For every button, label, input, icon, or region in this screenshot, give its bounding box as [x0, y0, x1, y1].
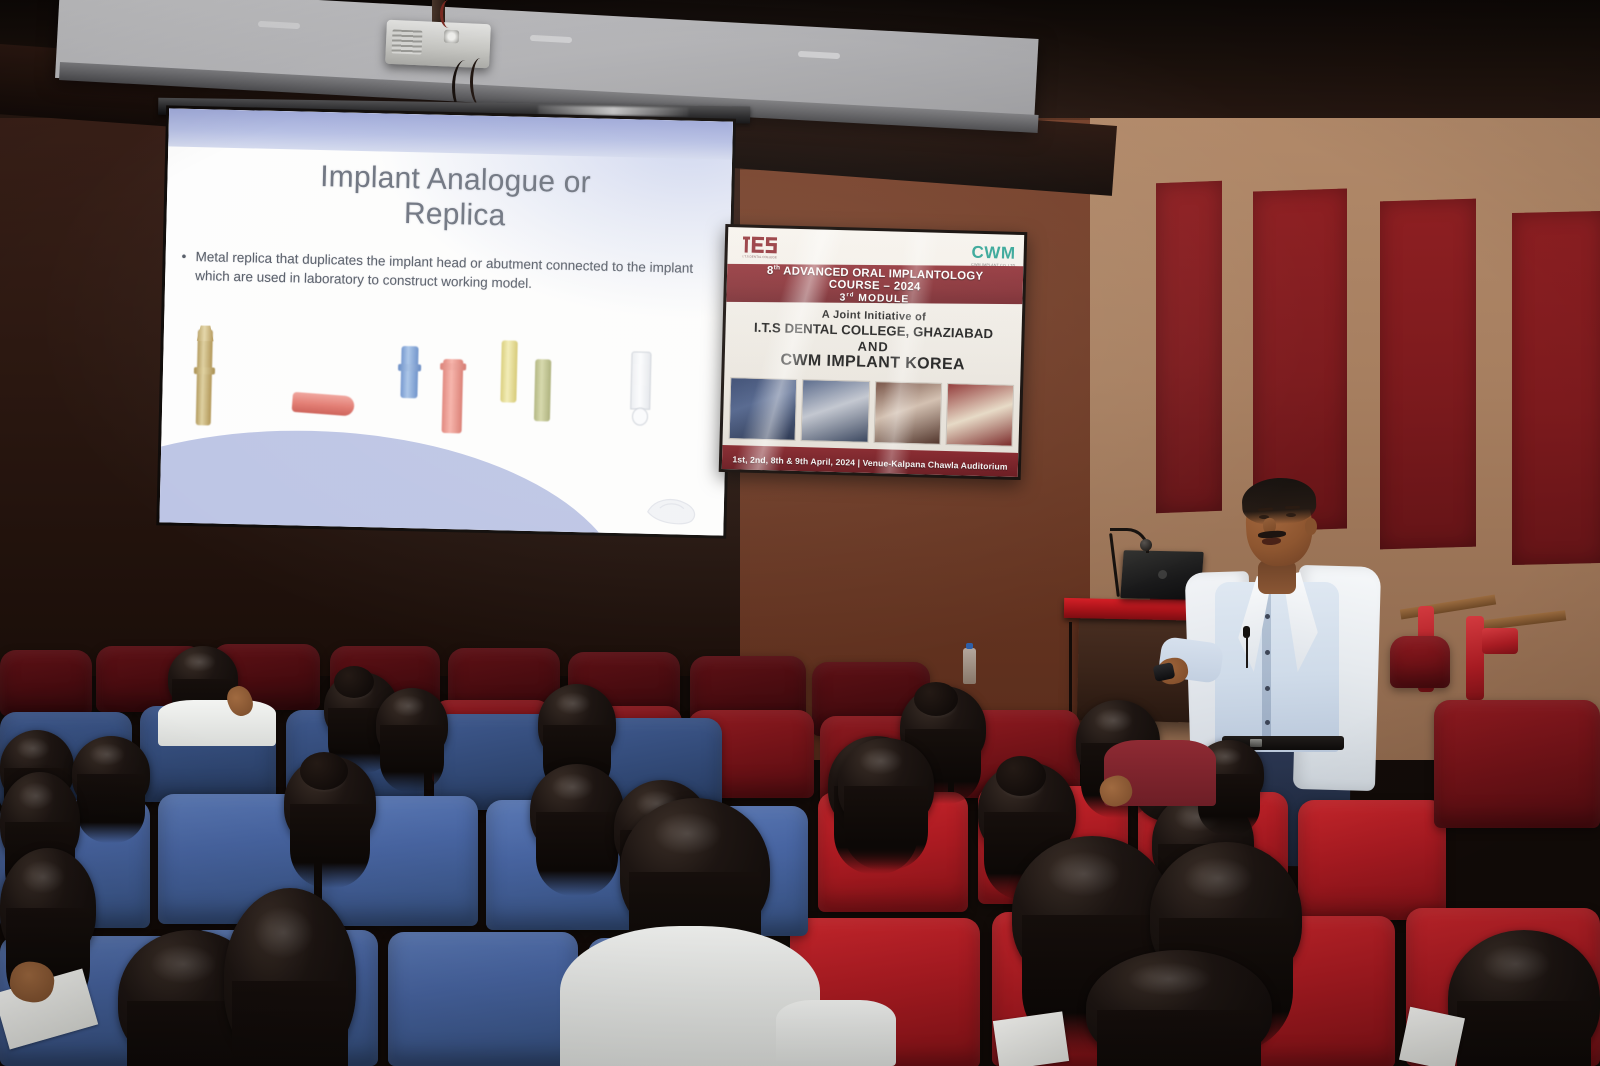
speaker-eye-right	[1286, 513, 1296, 517]
seat-far-right-1[interactable]	[1434, 700, 1600, 828]
speaker-shirt-button-1	[1265, 614, 1270, 619]
auditorium-photo: Implant Analogue or Replica • Metal repl…	[0, 0, 1600, 1066]
slide-corner-logo-icon	[639, 478, 702, 527]
audience-bun-m1	[300, 752, 348, 790]
projector-cable-3	[440, 0, 457, 28]
audience-head-m2	[530, 764, 624, 856]
banner-module-label: MODULE	[858, 293, 909, 305]
seat-right-4[interactable]	[1298, 800, 1446, 920]
analogue-blue	[400, 346, 418, 398]
projector-lens	[444, 30, 460, 44]
laptop-badge-icon	[1158, 570, 1168, 579]
speaker-shirt	[1215, 582, 1339, 752]
speaker-ear	[1305, 518, 1317, 535]
banner-photo-4: Implant Placement By Participants	[945, 383, 1014, 447]
audience-bun-m5	[996, 756, 1046, 796]
projector-cable-2	[470, 58, 491, 106]
analogue-outline-driver	[630, 351, 651, 409]
banner-surface: I.T.S DENTAL COLLEGE CWM CWM IMPLANT CO.…	[722, 227, 1024, 477]
banner-photo-strip: International Faculty Hands-on Activitie…	[729, 377, 1015, 447]
audience-shoulders-r1	[776, 1000, 896, 1066]
audience-head-f6	[1086, 950, 1272, 1066]
banner-photo-1: International Faculty	[729, 377, 798, 441]
banner-photo-3: Live Surgical Demo	[873, 381, 942, 445]
audience-bun-b2	[334, 666, 374, 698]
acoustic-panel-4	[1512, 211, 1600, 565]
seat-left-front-3[interactable]	[388, 932, 578, 1066]
audience-head-r1	[838, 738, 934, 830]
cwm-logo: CWM CWM IMPLANT CO.,LTD	[971, 243, 1016, 268]
audience-head-b4	[538, 684, 616, 762]
folded-seat-2[interactable]	[1466, 616, 1484, 700]
banner-edition-sup: th	[774, 264, 781, 271]
banner-photo-caption-4: Implant Placement By Participants	[948, 383, 1013, 385]
audience-head-f3	[620, 798, 770, 940]
audience-shoulders-b1	[158, 700, 276, 746]
its-logo-subtext: I.T.S DENTAL COLLEGE	[742, 254, 776, 259]
audience-head-b3	[376, 688, 448, 760]
presentation-slide: Implant Analogue or Replica • Metal repl…	[159, 108, 733, 535]
analogue-salmon-collar	[440, 363, 466, 371]
analogue-gold-head	[197, 325, 214, 341]
speaker-shirt-button-2	[1265, 650, 1270, 655]
analogue-blue-collar	[398, 364, 421, 372]
bullet-marker-icon: •	[181, 247, 186, 266]
acoustic-panel-3	[1380, 199, 1476, 550]
speaker-shirt-button-3	[1265, 686, 1270, 691]
slide-title: Implant Analogue or Replica	[224, 158, 686, 238]
audience-head-f2	[224, 888, 356, 1066]
slide-figure-group	[160, 322, 728, 495]
projection-screen: Implant Analogue or Replica • Metal repl…	[156, 105, 736, 554]
audience-bun-b5	[914, 682, 958, 716]
analogue-yellow	[500, 340, 517, 402]
acoustic-panel-1	[1156, 181, 1222, 514]
audience-paper-2	[1399, 1007, 1465, 1066]
audience-head-f7	[1448, 930, 1600, 1066]
audience-head-b9	[72, 736, 150, 810]
speaker-shirt-button-4	[1265, 720, 1270, 725]
audience-head-f8	[0, 848, 96, 964]
analogue-gold-collar	[194, 367, 215, 374]
cwm-logo-text: CWM	[971, 243, 1015, 263]
podium-cable	[1069, 622, 1075, 712]
its-logo-icon: I.T.S DENTAL COLLEGE	[739, 232, 780, 259]
seat-far-right-2[interactable]	[1390, 636, 1450, 688]
microphone-head-icon	[1140, 539, 1152, 551]
projector-vent	[391, 29, 422, 54]
bottle-cap-icon	[966, 643, 973, 649]
analogue-olive	[534, 359, 551, 421]
audience-paper-3	[993, 1011, 1069, 1066]
belt-buckle-icon	[1250, 739, 1262, 747]
water-bottle	[963, 648, 976, 684]
banner-photo-2: Hands-on Activities	[801, 379, 870, 443]
folded-seat-3[interactable]	[1482, 628, 1518, 654]
screen-surface: Implant Analogue or Replica • Metal repl…	[159, 108, 733, 535]
banner-module-sup: rd	[846, 292, 854, 298]
analogue-outline-tip	[632, 407, 648, 425]
seat-back-8[interactable]	[0, 650, 92, 716]
analogue-salmon-horizontal	[292, 392, 355, 417]
analogue-gold	[196, 329, 213, 425]
speaker-eyebrow-right	[1285, 506, 1300, 510]
event-banner: I.T.S DENTAL COLLEGE CWM CWM IMPLANT CO.…	[719, 224, 1028, 480]
